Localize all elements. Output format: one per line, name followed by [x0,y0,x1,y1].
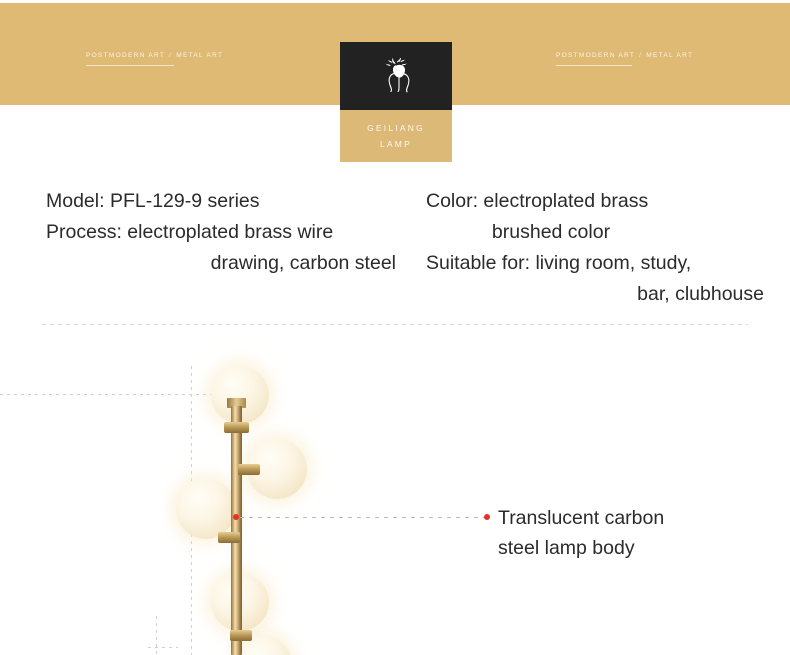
floor-lamp-image [0,336,330,655]
logo-dark-panel [340,42,452,110]
lamp-fitting [218,532,240,543]
callout-label-line2: steel lamp body [498,533,758,563]
banner-underline-right [556,65,632,66]
callout-label: Translucent carbon steel lamp body [498,503,758,563]
spec-color-cont: brushed color [414,217,776,248]
callout-leader-line [240,517,486,518]
lamp-globe [176,479,236,539]
logo-gold-panel: GEILIANG LAMP [340,110,452,162]
lamp-pole [231,406,242,655]
specs-column-left: Model: PFL-129-9 series Process: electro… [14,186,410,279]
banner-tagline-left-part2: METAL ART [176,52,223,59]
banner-tagline-left-part1: POSTMODERN ART [86,52,165,59]
spec-suitable-cont: bar, clubhouse [414,279,776,310]
specs-column-right: Color: electroplated brass brushed color… [414,186,776,310]
product-detail-page: POSTMODERN ART/METAL ART POSTMODERN ART/… [0,0,790,655]
brand-logo-block: GEILIANG LAMP [340,42,452,162]
banner-tagline-right-part2: METAL ART [646,52,693,59]
spec-suitable: Suitable for: living room, study, [414,248,776,279]
banner-tagline-left: POSTMODERN ART/METAL ART [86,52,223,59]
banner-tagline-right-separator: / [635,52,646,59]
brand-name-line2: LAMP [380,140,412,149]
product-image-stage: Translucent carbon steel lamp body [0,336,790,655]
spec-process: Process: electroplated brass wire [14,217,410,248]
section-divider [42,324,748,325]
banner-tagline-left-separator: / [165,52,176,59]
banner-tagline-right-part1: POSTMODERN ART [556,52,635,59]
lamp-fitting [230,630,252,641]
banner-underline-left [86,65,174,66]
spec-color: Color: electroplated brass [414,186,776,217]
product-specs: Model: PFL-129-9 series Process: electro… [0,186,790,310]
callout-end-dot [484,514,490,520]
lamp-fitting [224,422,249,433]
banner-tagline-right: POSTMODERN ART/METAL ART [556,52,693,59]
callout-anchor-dot [233,514,239,520]
spec-process-cont: drawing, carbon steel [14,248,410,279]
lamp-fitting [238,464,260,475]
deer-icon [381,58,411,94]
spec-model: Model: PFL-129-9 series [14,186,410,217]
callout-label-line1: Translucent carbon [498,503,758,533]
brand-name-line1: GEILIANG [367,124,425,133]
